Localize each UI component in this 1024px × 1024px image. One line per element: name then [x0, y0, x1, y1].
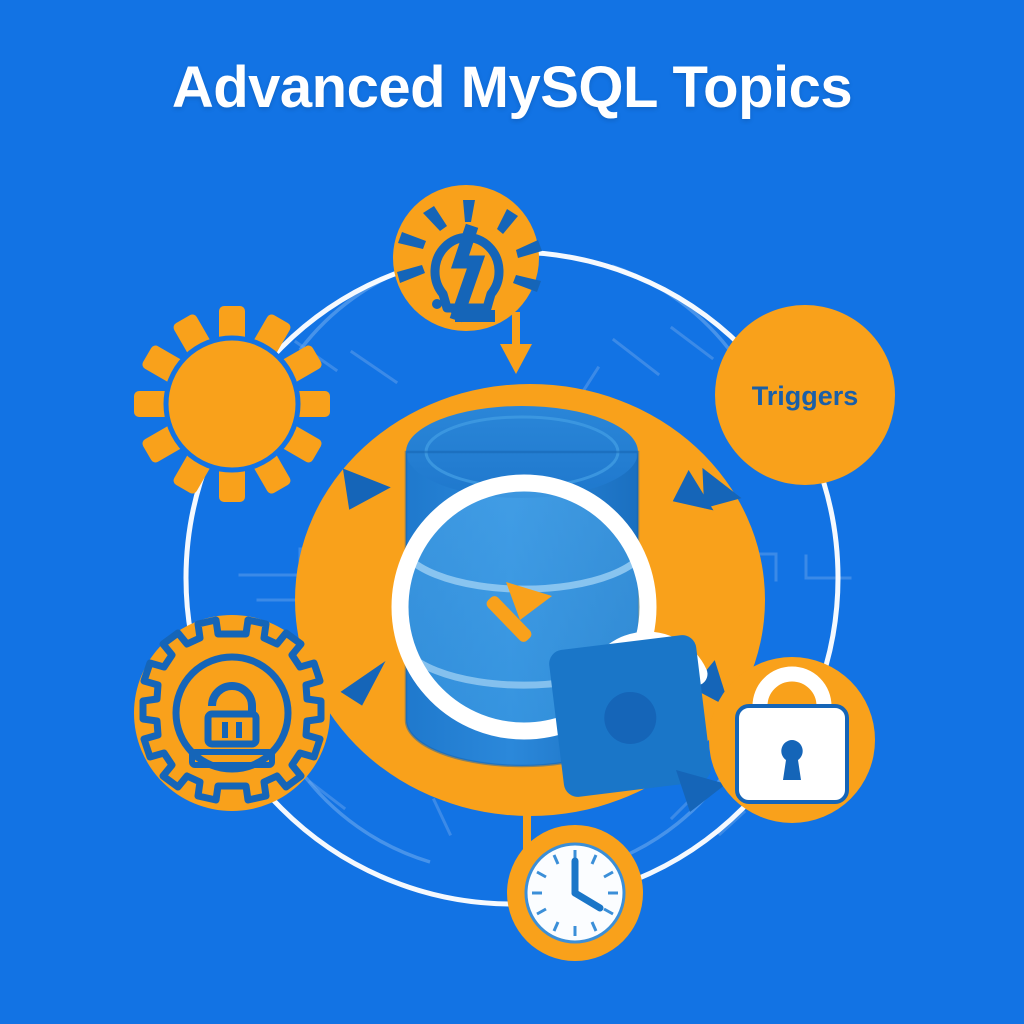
node-triggers[interactable]: Triggers	[715, 305, 895, 485]
node-scheduled-tasks[interactable]	[507, 825, 643, 961]
poster-canvas: Triggers	[0, 0, 1024, 1024]
page-title: Advanced MySQL Topics	[0, 58, 1024, 119]
node-security-settings[interactable]	[134, 615, 330, 811]
center-padlock-icon[interactable]	[548, 634, 726, 812]
node-label-triggers: Triggers	[752, 381, 859, 411]
diagram-artwork: Triggers	[0, 0, 1024, 1024]
node-access-control[interactable]	[709, 657, 875, 823]
